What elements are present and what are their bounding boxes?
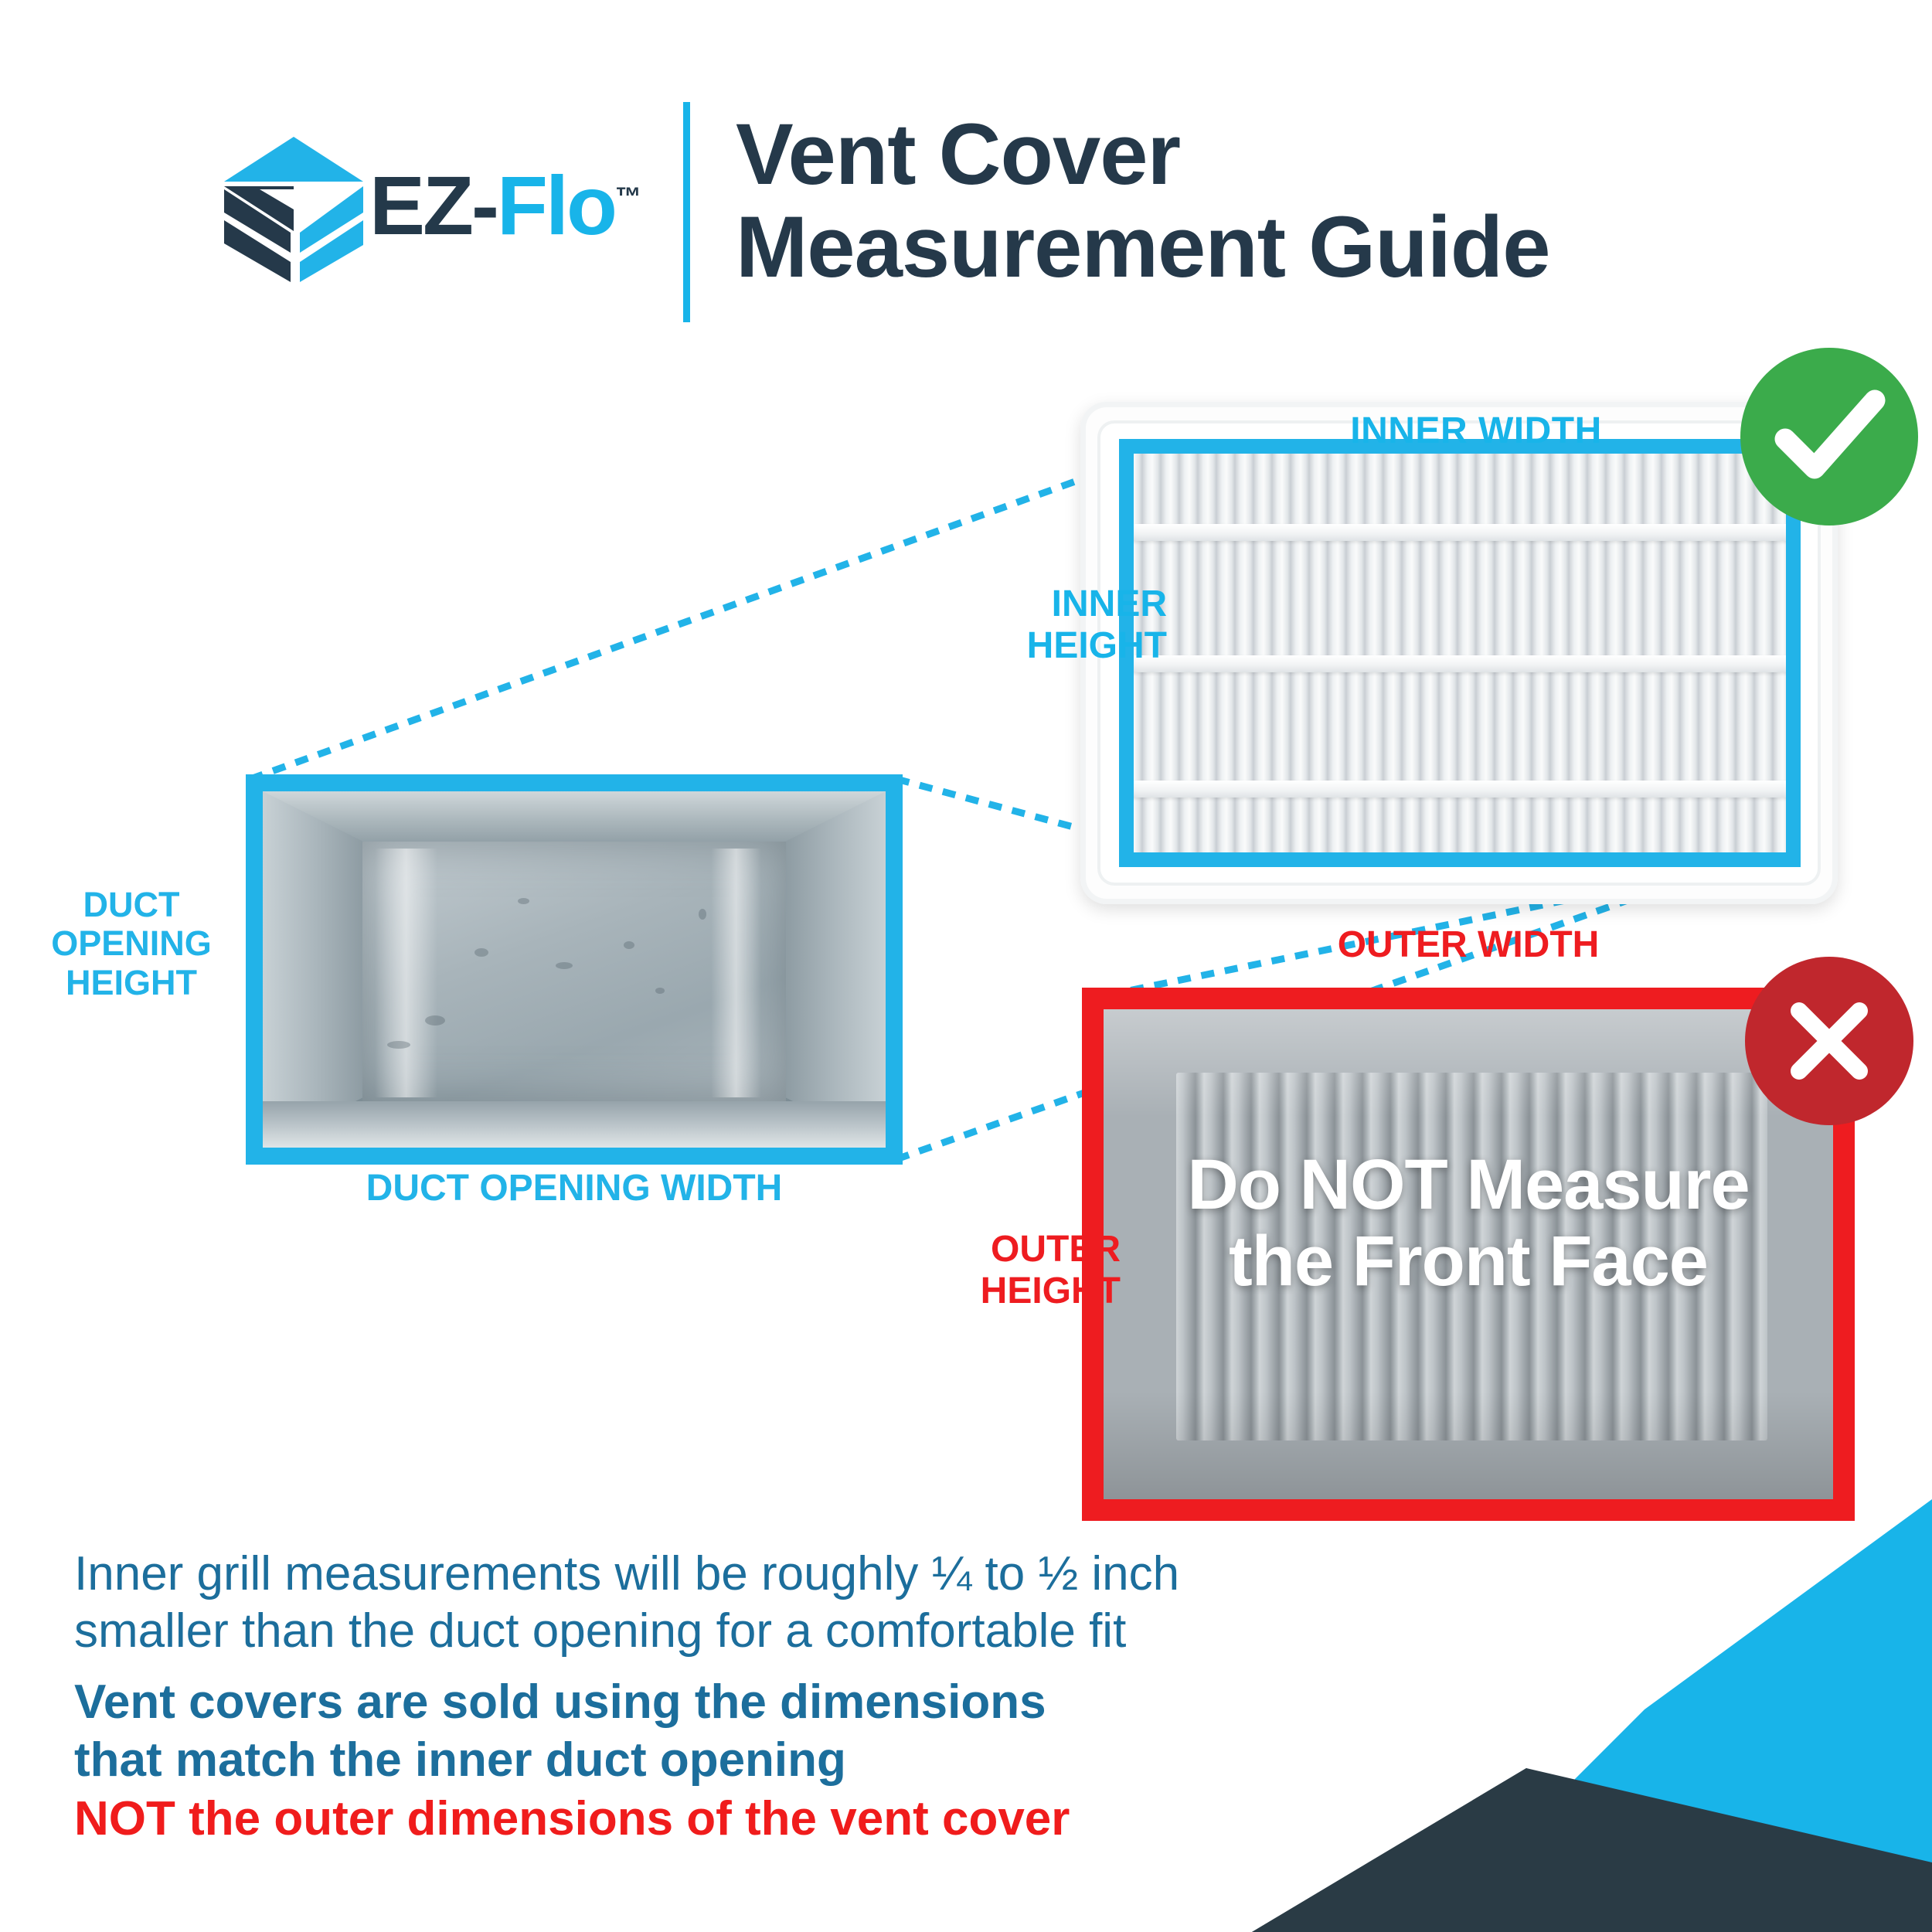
duct-height-label-line3: HEIGHT (31, 964, 232, 1002)
page-title-line-1: Vent Cover (736, 108, 1818, 201)
correct-vent-figure (1080, 402, 1838, 904)
duct-opening-width-label: DUCT OPENING WIDTH (246, 1167, 903, 1209)
header: EZ-Flo™ Vent Cover Measurement Guide (0, 0, 1932, 332)
footnote-spacer (74, 1661, 1280, 1673)
brand-wordmark: EZ-Flo™ (369, 164, 641, 247)
outer-width-label: OUTER WIDTH (1159, 923, 1777, 966)
footnote-block: Inner grill measurements will be roughly… (74, 1546, 1280, 1849)
outer-height-label-line1: OUTER (873, 1229, 1121, 1270)
duct-opening-height-label: DUCT OPENING HEIGHT (31, 886, 232, 1002)
duct-opening-measure-box (246, 774, 903, 1165)
duct-height-label-line1: DUCT (31, 886, 232, 924)
inner-measure-box (1119, 439, 1801, 867)
footnote-line-1: Inner grill measurements will be roughly… (74, 1546, 1280, 1603)
footnote-line-5: NOT the outer dimensions of the vent cov… (74, 1790, 1280, 1849)
brand-wordmark-ez: EZ- (369, 158, 497, 252)
outer-height-label: OUTER HEIGHT (873, 1229, 1121, 1312)
inner-width-label: INNER WIDTH (1206, 410, 1747, 452)
header-divider (683, 102, 690, 322)
corner-decoration (1252, 1499, 1932, 1932)
duct-opening-figure (246, 774, 903, 1165)
inner-height-label-line2: HEIGHT (896, 625, 1167, 667)
ez-flo-cube-logo-icon (223, 135, 366, 282)
footnote-line-3: Vent covers are sold using the dimension… (74, 1673, 1280, 1732)
page-title: Vent Cover Measurement Guide (736, 108, 1818, 294)
footnote-line-2: smaller than the duct opening for a comf… (74, 1603, 1280, 1660)
outer-measure-box (1082, 988, 1855, 1521)
brand-wordmark-flo: Flo (497, 158, 615, 252)
incorrect-vent-figure: Do NOT Measure the Front Face (1082, 988, 1855, 1521)
outer-height-label-line2: HEIGHT (873, 1270, 1121, 1312)
footnote-line-4: that match the inner duct opening (74, 1731, 1280, 1790)
inner-height-label-line1: INNER (896, 583, 1167, 625)
trademark-symbol: ™ (615, 182, 641, 212)
inner-height-label: INNER HEIGHT (896, 583, 1167, 667)
duct-height-label-line2: OPENING (31, 924, 232, 963)
x-icon (1745, 957, 1913, 1125)
page-title-line-2: Measurement Guide (736, 201, 1818, 294)
corner-shape-cyan-top (1645, 1499, 1932, 1709)
check-icon (1740, 348, 1918, 526)
